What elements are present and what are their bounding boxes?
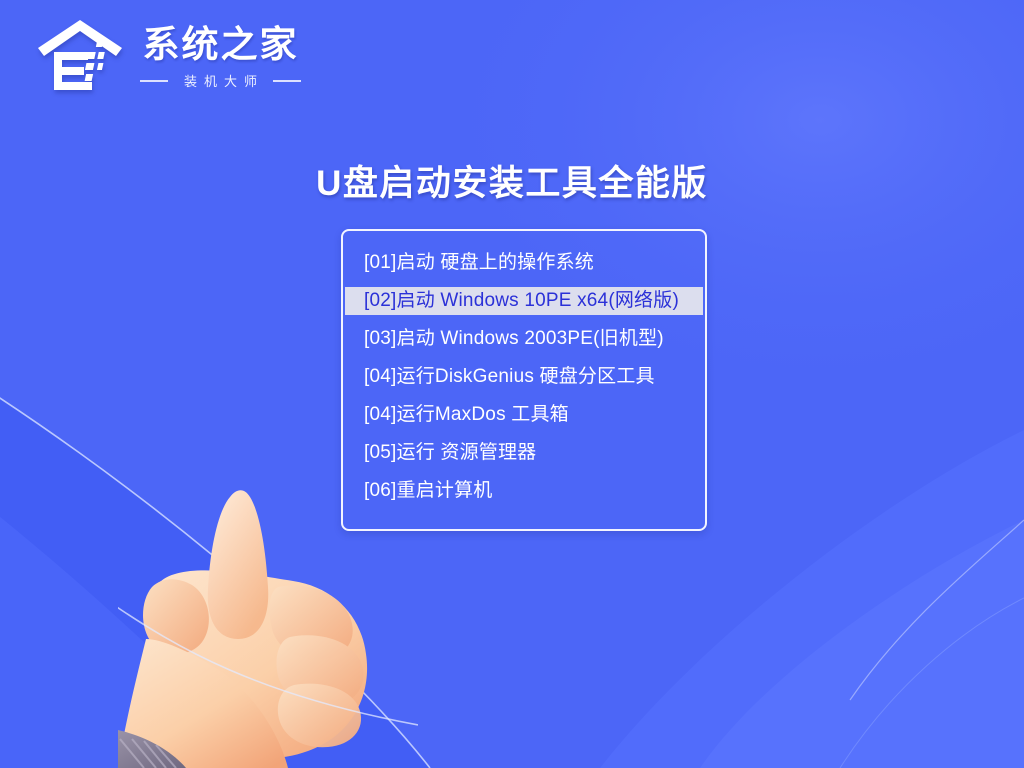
menu-item-7[interactable]: [06]重启计算机 <box>343 477 705 505</box>
boot-menu-list[interactable]: [01]启动 硬盘上的操作系统[02]启动 Windows 10PE x64(网… <box>343 249 705 515</box>
brand-text: 系统之家 装机大师 <box>140 22 301 91</box>
brand-subtitle: 装机大师 <box>177 71 264 90</box>
menu-item-5[interactable]: [04]运行MaxDos 工具箱 <box>343 401 705 429</box>
brand-subtitle-row: 装机大师 <box>140 71 301 90</box>
boot-menu-panel: [01]启动 硬盘上的操作系统[02]启动 Windows 10PE x64(网… <box>341 229 707 531</box>
brand-logo: 系统之家 装机大师 <box>36 18 301 94</box>
page-title: U盘启动安装工具全能版 <box>0 155 1024 206</box>
menu-item-6[interactable]: [05]运行 资源管理器 <box>343 439 705 467</box>
rule-right <box>273 80 301 82</box>
boot-menu-screen: 系统之家 装机大师 U盘启动安装工具全能版 [01]启动 硬盘上的操作系统[02… <box>0 0 1024 768</box>
menu-item-4[interactable]: [04]运行DiskGenius 硬盘分区工具 <box>343 363 705 391</box>
house-pixel-logo-icon <box>36 18 124 94</box>
rule-left <box>140 80 168 82</box>
brand-name: 系统之家 <box>143 26 299 65</box>
menu-item-3[interactable]: [03]启动 Windows 2003PE(旧机型) <box>343 325 705 353</box>
menu-item-1[interactable]: [01]启动 硬盘上的操作系统 <box>343 249 705 277</box>
menu-item-2[interactable]: [02]启动 Windows 10PE x64(网络版) <box>345 287 703 315</box>
